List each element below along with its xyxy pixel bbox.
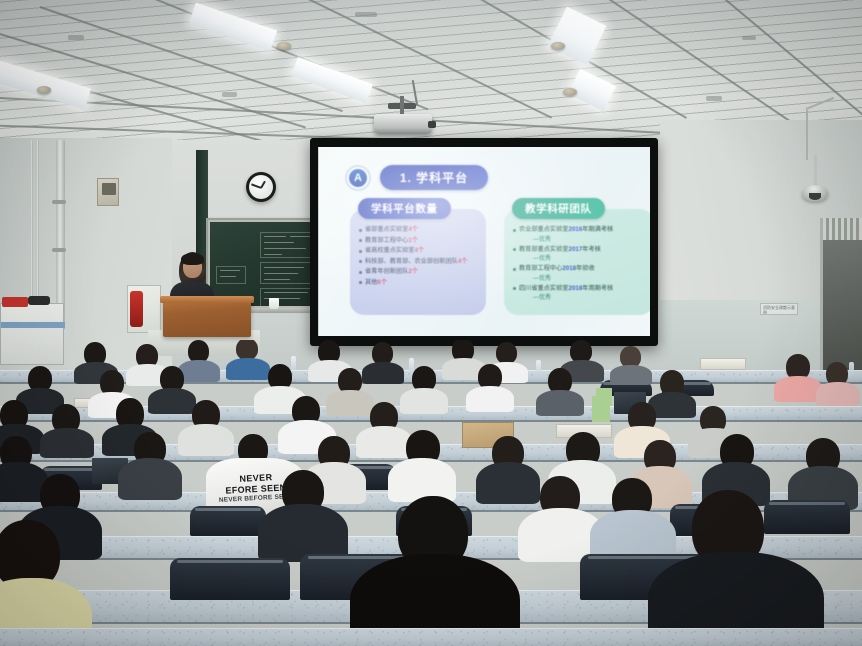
desk-row-bottom xyxy=(0,628,862,646)
projector-mount-pole xyxy=(400,96,404,116)
seat-back xyxy=(764,500,850,534)
bullet-dot-icon xyxy=(513,287,516,290)
ceiling-vent xyxy=(222,92,237,97)
ceiling-vent xyxy=(742,36,756,40)
panel-left-heading: 学科平台数量 xyxy=(358,198,451,219)
chalk-mark xyxy=(264,236,286,237)
ceiling-speaker xyxy=(563,88,577,96)
bullet-dot-icon xyxy=(513,248,516,251)
bullet-text: 教育部重点实验室2017年考核 xyxy=(519,245,647,255)
logo-glyph: A xyxy=(349,169,367,187)
bullet-item: 省部重点实验室4个 xyxy=(359,225,479,235)
panel-right-bullets: 农业部重点实验室2016年期满考核 —优秀 教育部重点实验室2017年考核 —优… xyxy=(513,225,647,303)
slide: A 1. 学科平台 学科平台数量 省部重点实验室4个 教育部工程中心1个 xyxy=(318,147,650,336)
bullet-subtext: —优秀 xyxy=(513,294,647,303)
wall-pipe-large xyxy=(56,140,65,330)
fire-extinguisher-cabinet[interactable] xyxy=(127,285,161,333)
chalk-writing-block xyxy=(216,266,246,284)
bullet-text: 四川省重点实验室2018年周期考核 xyxy=(519,284,647,294)
bullet-item: 教育部工程中心1个 xyxy=(359,236,479,246)
clock-minute-hand xyxy=(251,184,261,189)
panel-left-bullets: 省部重点实验室4个 教育部工程中心1个 省高校重点实验室4个 科技部、教育部、农… xyxy=(359,225,479,288)
door-transom-grille xyxy=(823,218,862,240)
bullet-text: 其他6个 xyxy=(365,278,479,288)
bullet-item: 教育部工程中心2018年验收 xyxy=(513,264,647,274)
dome-camera-lens xyxy=(809,193,821,200)
panel-right-heading: 教学科研团队 xyxy=(512,198,605,219)
bullet-text: 教育部工程中心1个 xyxy=(365,236,479,246)
water-bottle xyxy=(849,362,854,376)
bullet-text: 省高校重点实验室4个 xyxy=(365,246,479,256)
presenter-fringe xyxy=(181,253,204,265)
bullet-subtext: —优秀 xyxy=(513,236,647,245)
fire-extinguisher-icon xyxy=(130,291,143,327)
projector-icon xyxy=(374,114,432,134)
ceiling-speaker xyxy=(277,42,291,50)
ceiling-speaker xyxy=(37,86,51,94)
bullet-item: 其他6个 xyxy=(359,278,479,288)
bullet-dot-icon xyxy=(513,268,516,271)
seat-back xyxy=(190,506,266,536)
cup-on-tray xyxy=(269,298,279,309)
bullet-text: 科技部、教育部、农业部创新团队4个 xyxy=(365,257,479,267)
chalk-mark xyxy=(264,267,304,268)
chalk-mark xyxy=(264,242,294,243)
water-bottle xyxy=(291,356,296,370)
chalk-mark xyxy=(290,236,310,237)
bullet-text: 省青年创新团队2个 xyxy=(365,267,479,277)
chalk-mark xyxy=(264,248,306,249)
pipe-clamp xyxy=(52,200,66,204)
bullet-subtext: —优秀 xyxy=(513,255,647,264)
bullet-dot-icon xyxy=(359,260,362,263)
bullet-dot-icon xyxy=(359,271,362,274)
bullet-item: 科技部、教育部、农业部创新团队4个 xyxy=(359,257,479,267)
bullet-item: 四川省重点实验室2018年周期考核 xyxy=(513,284,647,294)
bullet-dot-icon xyxy=(359,229,362,232)
bullet-text: 农业部重点实验室2016年期满考核 xyxy=(519,225,647,235)
bullet-text: 教育部工程中心2018年验收 xyxy=(519,264,647,274)
chalk-mark xyxy=(220,270,240,271)
chalk-mark xyxy=(264,292,308,293)
lecture-hall-photo: 消防安全疏散示意图 xyxy=(0,0,862,646)
chalk-mark xyxy=(264,273,298,274)
ceiling-vent xyxy=(706,96,722,101)
podium xyxy=(163,299,251,337)
clock-face xyxy=(249,175,273,199)
ceiling-speaker xyxy=(551,42,565,50)
water-bottle xyxy=(409,358,414,372)
seat-back xyxy=(170,558,290,600)
chalk-mark xyxy=(264,279,290,280)
wall-sign: 消防安全疏散示意图 xyxy=(760,303,798,315)
water-bottle xyxy=(536,360,541,374)
camera-mount-stem xyxy=(814,155,817,187)
ceiling-vent xyxy=(68,35,84,40)
cabinet-band xyxy=(1,322,65,328)
green-paper xyxy=(592,396,610,422)
bullet-dot-icon xyxy=(359,239,362,242)
bullet-item: 省高校重点实验室4个 xyxy=(359,246,479,256)
chalk-mark xyxy=(264,254,282,255)
bullet-item: 教育部重点实验室2017年考核 xyxy=(513,245,647,255)
slide-title: 1. 学科平台 xyxy=(380,165,488,190)
electrical-junction-box xyxy=(97,178,119,206)
bullet-dot-icon xyxy=(359,281,362,284)
podium-top xyxy=(160,296,254,303)
bullet-item: 农业部重点实验室2016年期满考核 xyxy=(513,225,647,235)
bullet-dot-icon xyxy=(359,250,362,253)
bullet-text: 省部重点实验室4个 xyxy=(365,225,479,235)
bullet-item: 省青年创新团队2个 xyxy=(359,267,479,277)
chalkboard xyxy=(210,222,314,306)
red-item-on-cabinet xyxy=(2,297,28,307)
projector-lens xyxy=(428,121,436,128)
chalk-mark xyxy=(220,276,236,277)
slide-logo: A xyxy=(345,165,371,191)
paper-stack xyxy=(700,358,746,370)
slide-panel-right: 教学科研团队 农业部重点实验室2016年期满考核 —优秀 教育部重点实验室201… xyxy=(504,209,650,315)
pipe-clamp xyxy=(52,248,66,252)
ceiling-cable xyxy=(806,110,808,160)
projection-screen[interactable]: A 1. 学科平台 学科平台数量 省部重点实验室4个 教育部工程中心1个 xyxy=(310,138,658,346)
bullet-subtext: —优秀 xyxy=(513,275,647,284)
black-item-on-cabinet xyxy=(28,296,50,305)
bullet-dot-icon xyxy=(513,229,516,232)
junction-box-face xyxy=(102,183,116,195)
slide-panel-left: 学科平台数量 省部重点实验室4个 教育部工程中心1个 省高校重点实验室4个 xyxy=(350,209,486,315)
wall-clock xyxy=(246,172,276,202)
audience-area: NEVER EFORE SEEN NEVER BEFORE SEEN xyxy=(0,340,862,646)
ceiling-vent xyxy=(355,12,377,17)
